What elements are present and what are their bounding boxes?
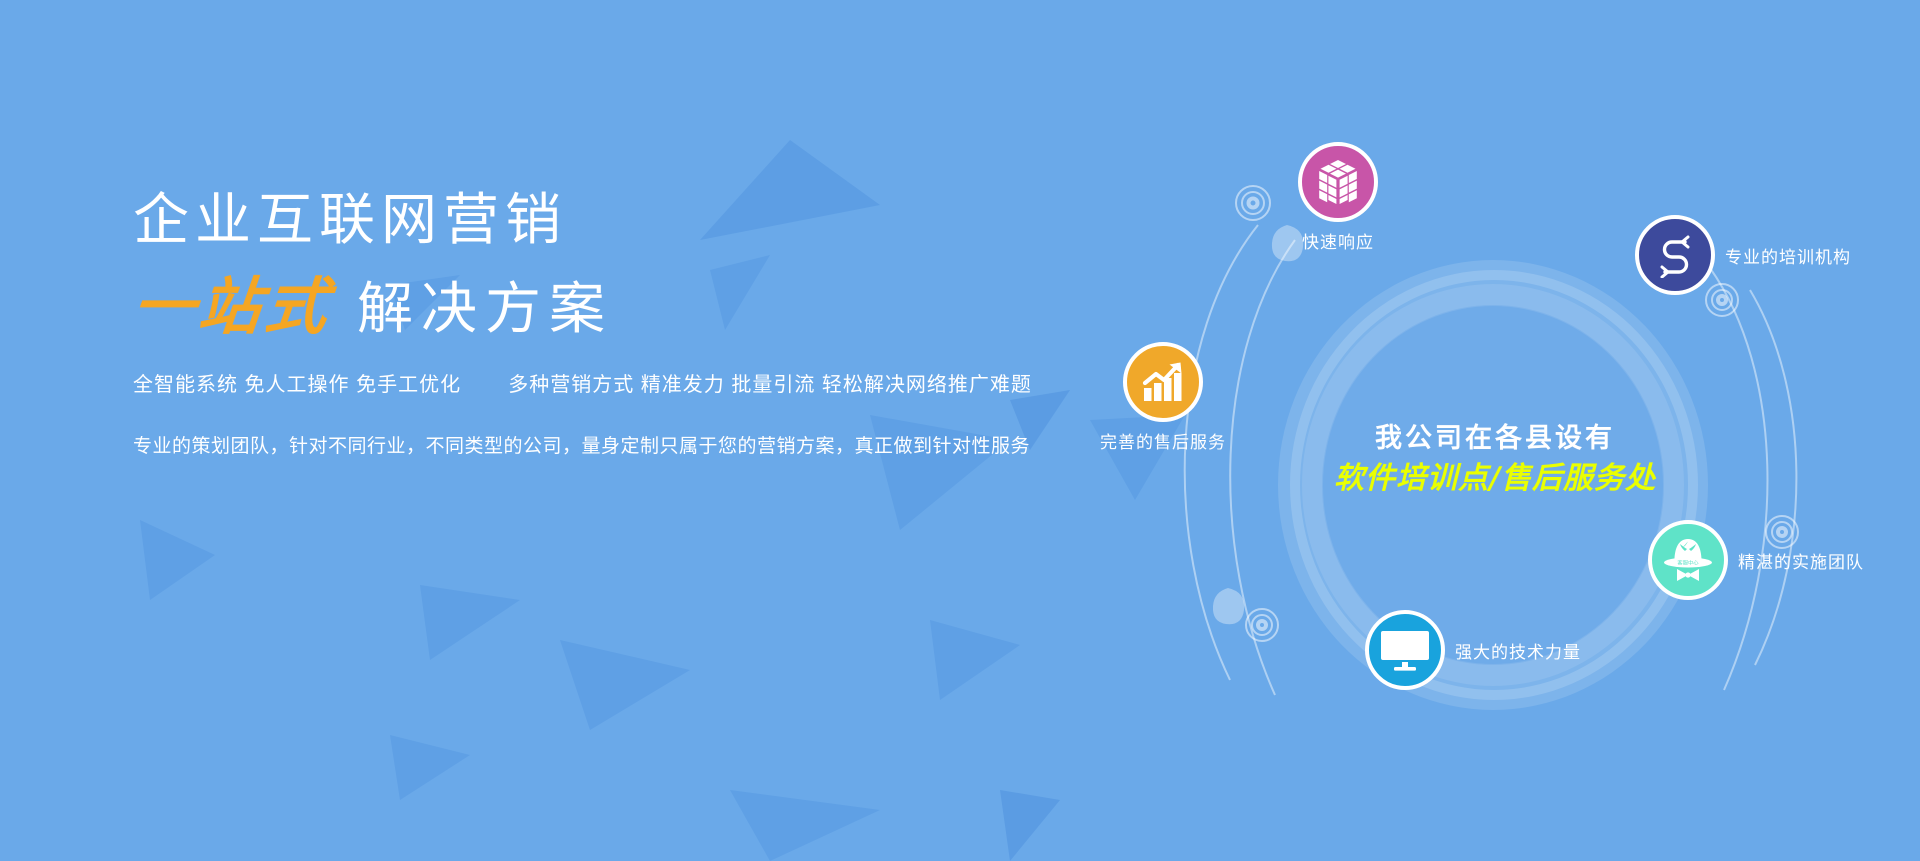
headline-rest-text: 解决方案 (357, 275, 613, 342)
headline-primary: 企业互联网营销 (133, 185, 1063, 255)
node-label-professional-training: 专业的培训机构 (1725, 243, 1851, 268)
monitor-icon (1365, 610, 1445, 690)
target-ring-bottom-left (1246, 609, 1278, 641)
rubiks-cube-icon (1298, 142, 1378, 222)
s-arrow-icon (1635, 215, 1715, 295)
hero-subtitle-line-1: 全智能系统 免人工操作 免手工优化 多种营销方式 精准发力 批量引流 轻松解决网… (133, 368, 1063, 397)
hero-subtitle-line-2: 专业的策划团队，针对不同行业，不同类型的公司，量身定制只属于您的营销方案，真正做… (133, 431, 1063, 458)
center-text-line-1: 我公司在各县设有 (1315, 420, 1675, 458)
hero-text-column: 企业互联网营销 一站式 解决方案 全智能系统 免人工操作 免手工优化 多种营销方… (133, 185, 1063, 458)
headline-accent-text: 一站式 (129, 273, 334, 341)
headline-secondary: 一站式 解决方案 (133, 273, 1063, 342)
rubiks-cube-glyph (1316, 159, 1360, 205)
hat-bowtie-glyph: 客服中心 (1661, 535, 1715, 585)
monitor-glyph (1380, 628, 1430, 672)
circle-center-text: 我公司在各县设有 软件培训点/售后服务处 (1315, 420, 1675, 500)
circle-diagram: 我公司在各县设有 软件培训点/售后服务处 (1110, 120, 1910, 800)
growth-chart-glyph (1140, 360, 1186, 404)
growth-chart-icon (1123, 342, 1203, 422)
node-strong-technology[interactable]: 强大的技术力量 (1365, 610, 1581, 690)
hat-band-text: 客服中心 (1677, 559, 1699, 567)
node-after-sales-service[interactable]: 完善的售后服务 (1100, 342, 1226, 453)
node-skilled-team[interactable]: 客服中心 精湛的实施团队 (1648, 520, 1864, 600)
node-professional-training[interactable]: 专业的培训机构 (1635, 215, 1851, 295)
hat-bowtie-icon: 客服中心 (1648, 520, 1728, 600)
hero-subtitle-1a: 全智能系统 免人工操作 免手工优化 (133, 374, 461, 396)
hero-subtitle-1b: 多种营销方式 精准发力 批量引流 轻松解决网络推广难题 (508, 374, 1032, 396)
node-label-fast-response: 快速响应 (1302, 228, 1374, 253)
center-text-line-2: 软件培训点/售后服务处 (1315, 458, 1675, 500)
node-fast-response[interactable]: 快速响应 (1298, 142, 1378, 253)
s-arrow-glyph (1652, 232, 1698, 278)
node-label-strong-technology: 强大的技术力量 (1455, 638, 1581, 663)
marketing-banner: 企业互联网营销 一站式 解决方案 全智能系统 免人工操作 免手工优化 多种营销方… (0, 0, 1920, 861)
node-label-skilled-team: 精湛的实施团队 (1738, 548, 1864, 573)
node-label-after-sales-service: 完善的售后服务 (1100, 428, 1226, 453)
target-ring-top-left (1236, 186, 1270, 220)
